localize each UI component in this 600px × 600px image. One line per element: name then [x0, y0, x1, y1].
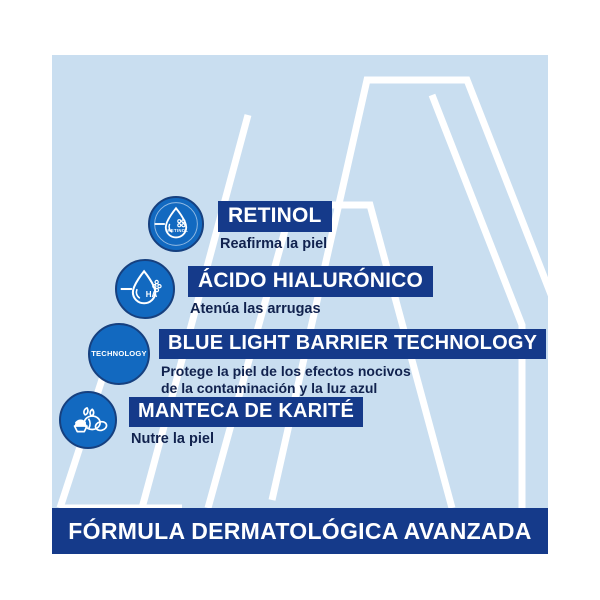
ingredient-subtitle-retinol: Reafirma la piel	[220, 236, 332, 252]
ingredient-title-acido-hialuronico: ÁCIDO HIALURÓNICO	[188, 266, 433, 297]
ingredient-subtitle-acido-hialuronico: Atenúa las arrugas	[190, 301, 433, 317]
karite-icon-wrap	[59, 391, 117, 449]
technology-icon-label: TECHNOLOGY	[91, 350, 147, 358]
technology-circle-icon: TECHNOLOGY	[88, 323, 150, 385]
hyaluronic-acid-droplet-icon: HA	[115, 259, 175, 319]
shea-butter-nuts-icon	[59, 391, 117, 449]
ingredient-title-blue-light-barrier-technology: BLUE LIGHT BARRIER TECHNOLOGY	[159, 329, 546, 359]
svg-text:HA: HA	[146, 290, 158, 299]
retinol-icon-wrap: RETINOL	[148, 196, 204, 252]
infographic-root: RETINOL RETINOL Reafirma la piel	[0, 0, 600, 600]
ingredient-row-retinol: RETINOL RETINOL Reafirma la piel	[148, 196, 332, 252]
karite-texts: MANTECA DE KARITÉ Nutre la piel	[129, 397, 363, 447]
technology-texts: BLUE LIGHT BARRIER TECHNOLOGY Protege la…	[159, 329, 546, 396]
ha-texts: ÁCIDO HIALURÓNICO Atenúa las arrugas	[188, 266, 433, 317]
content-panel: RETINOL RETINOL Reafirma la piel	[52, 55, 548, 508]
ha-icon-wrap: HA	[115, 259, 175, 319]
ingredient-title-manteca-de-karite: MANTECA DE KARITÉ	[129, 397, 363, 427]
ingredient-row-acido-hialuronico: HA ÁCIDO HIALURÓNICO Atenúa las arrugas	[115, 259, 433, 319]
retinol-droplet-icon: RETINOL	[148, 196, 204, 252]
ingredient-row-manteca-de-karite: MANTECA DE KARITÉ Nutre la piel	[59, 391, 363, 449]
retinol-texts: RETINOL Reafirma la piel	[218, 201, 332, 252]
ingredient-title-retinol: RETINOL	[218, 201, 332, 232]
technology-icon-wrap: TECHNOLOGY	[88, 323, 150, 385]
ingredient-row-blue-light-barrier-technology: TECHNOLOGY BLUE LIGHT BARRIER TECHNOLOGY…	[88, 323, 546, 396]
ingredient-subtitle-manteca-de-karite: Nutre la piel	[131, 431, 363, 447]
footer-banner: FÓRMULA DERMATOLÓGICA AVANZADA	[52, 508, 548, 554]
svg-text:RETINOL: RETINOL	[168, 228, 189, 233]
footer-text: FÓRMULA DERMATOLÓGICA AVANZADA	[68, 518, 531, 545]
